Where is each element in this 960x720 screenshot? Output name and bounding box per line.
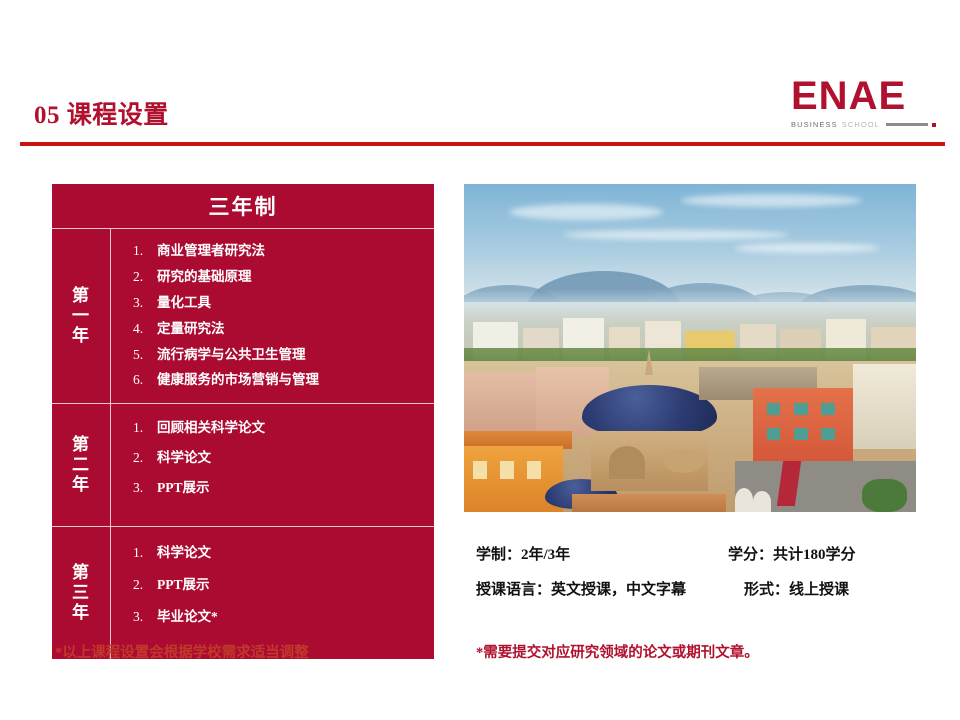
table-row: 第 三 年 1. 科学论文 2. PPT展示 3. 毕业论文* [52,527,434,659]
photo-window [794,403,808,415]
course-list-3: 1. 科学论文 2. PPT展示 3. 毕业论文* [111,527,434,659]
list-item: 1. 回顾相关科学论文 [133,420,424,437]
list-item-label: 科学论文 [157,450,211,467]
list-item: 6. 健康服务的市场营销与管理 [133,372,424,389]
photo-statue [753,491,771,512]
photo-window [767,403,781,415]
logo-tagline-business: BUSINESS [791,120,838,129]
list-item-label: 量化工具 [157,295,211,312]
list-item-number: 4. [133,321,157,338]
year-char: 年 [72,326,90,346]
info-line-language-format: 授课语言：英文授课，中文字幕 形式：线上授课 [476,578,916,599]
year-char: 第 [72,435,90,455]
list-item: 3. PPT展示 [133,480,424,497]
list-item-label: 定量研究法 [157,321,225,338]
photo-foreground-buildings [464,361,916,512]
year-char: 第 [72,563,90,583]
logo-bar-decoration [886,123,928,126]
list-item: 3. 量化工具 [133,295,424,312]
table-header-three-year: 三年制 [52,184,434,229]
list-item-label: 科学论文 [157,545,211,562]
list-item-number: 6. [133,372,157,389]
photo-window [767,428,781,440]
enae-logo: ENAE BUSINESS SCHOOL [791,76,936,129]
photo-cloud [509,204,663,220]
photo-tree [862,479,907,512]
footnote-thesis-requirement: *需要提交对应研究领域的论文或期刊文章。 [476,641,759,662]
photo-window-row [500,461,514,479]
slide-header: 05 课程设置 ENAE BUSINESS SCHOOL [0,0,960,152]
info-language: 授课语言：英文授课，中文字幕 [476,578,744,599]
photo-modern-building [853,364,916,448]
list-item-label: PPT展示 [157,577,210,594]
title-divider-rule [20,142,945,146]
photo-dome-arch [609,446,645,479]
list-item: 5. 流行病学与公共卫生管理 [133,347,424,364]
year-label-cell-3: 第 三 年 [52,527,111,659]
table-row: 第 二 年 1. 回顾相关科学论文 2. 科学论文 3. PPT展示 [52,404,434,527]
campus-city-photo [464,184,916,512]
photo-red-palace [753,388,852,463]
info-credits: 学分：共计180学分 [728,543,916,564]
page-title: 05 课程设置 [34,103,169,128]
year-char: 二 [72,455,90,475]
list-item-number: 3. [133,480,157,497]
list-item-number: 5. [133,347,157,364]
logo-dot-decoration [932,123,936,127]
list-item-label: 商业管理者研究法 [157,243,265,260]
year-label-vertical-2: 第 二 年 [72,435,90,495]
info-line-duration-credits: 学制：2年/3年 学分：共计180学分 [476,543,916,564]
footnote-curriculum-adjust: *以上课程设置会根据学校需求适当调整 [55,641,309,662]
photo-spire [645,349,653,375]
course-list-1: 1. 商业管理者研究法 2. 研究的基础原理 3. 量化工具 4. 定量研究法 … [111,229,434,403]
list-item-number: 2. [133,450,157,467]
photo-dome-circle [663,449,704,473]
year-label-cell-2: 第 二 年 [52,404,111,526]
year-char: 第 [72,286,90,306]
curriculum-table: 三年制 第 一 年 1. 商业管理者研究法 2. 研究的基础原理 3. 量化工具 [52,184,434,659]
year-char: 年 [72,603,90,623]
list-item-number: 3. [133,295,157,312]
program-info-block: 学制：2年/3年 学分：共计180学分 授课语言：英文授课，中文字幕 形式：线上… [476,543,916,613]
photo-window-row [527,461,541,479]
photo-window [821,428,835,440]
list-item: 2. PPT展示 [133,577,424,594]
logo-wordmark: ENAE [791,76,936,116]
list-item-number: 2. [133,577,157,594]
photo-window-row [473,461,487,479]
photo-building [464,373,536,433]
list-item-number: 1. [133,420,157,437]
photo-window [794,428,808,440]
list-item-label: 健康服务的市场营销与管理 [157,372,319,389]
year-label-cell-1: 第 一 年 [52,229,111,403]
list-item: 2. 科学论文 [133,450,424,467]
course-list-2: 1. 回顾相关科学论文 2. 科学论文 3. PPT展示 [111,404,434,526]
year-label-vertical-3: 第 三 年 [72,563,90,623]
list-item-label: 毕业论文* [157,609,218,626]
list-item-label: 流行病学与公共卫生管理 [157,347,306,364]
photo-cloud [681,194,862,207]
photo-cloud [735,243,880,253]
logo-tagline: BUSINESS SCHOOL [791,120,936,129]
logo-tagline-school: SCHOOL [842,120,880,129]
photo-main-blue-dome [582,385,718,436]
year-char: 年 [72,475,90,495]
year-char: 三 [72,583,90,603]
list-item-number: 3. [133,609,157,626]
photo-rooftop [572,494,726,512]
list-item-label: 回顾相关科学论文 [157,420,265,437]
list-item-label: 研究的基础原理 [157,269,252,286]
photo-window [821,403,835,415]
list-item: 1. 科学论文 [133,545,424,562]
year-label-vertical-1: 第 一 年 [72,286,90,346]
list-item-number: 2. [133,269,157,286]
list-item: 3. 毕业论文* [133,609,424,626]
info-duration: 学制：2年/3年 [476,543,728,564]
list-item-label: PPT展示 [157,480,210,497]
info-format: 形式：线上授课 [744,578,916,599]
table-row: 第 一 年 1. 商业管理者研究法 2. 研究的基础原理 3. 量化工具 4. … [52,229,434,404]
year-char: 一 [72,306,90,326]
list-item: 1. 商业管理者研究法 [133,243,424,260]
list-item: 4. 定量研究法 [133,321,424,338]
photo-statue [735,488,753,512]
list-item-number: 1. [133,243,157,260]
list-item-number: 1. [133,545,157,562]
list-item: 2. 研究的基础原理 [133,269,424,286]
